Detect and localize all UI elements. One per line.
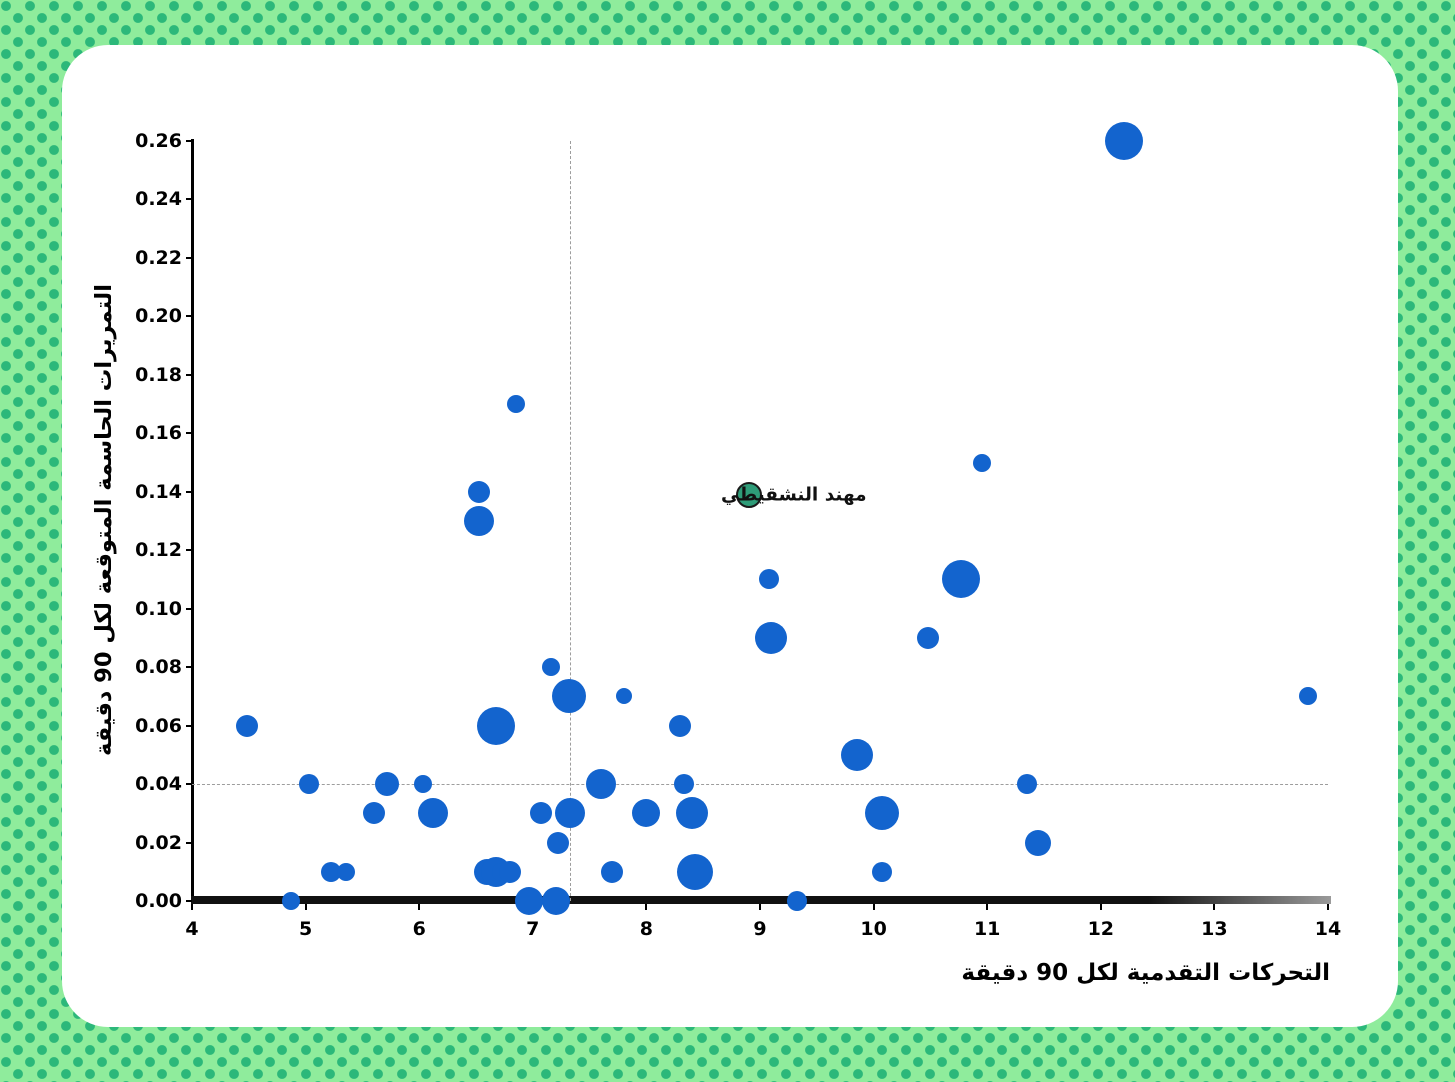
- poster-background: التمريرات الحاسمة المتوقعة لكل 90 دقيقة …: [0, 0, 1455, 1082]
- chart-card: [62, 45, 1398, 1027]
